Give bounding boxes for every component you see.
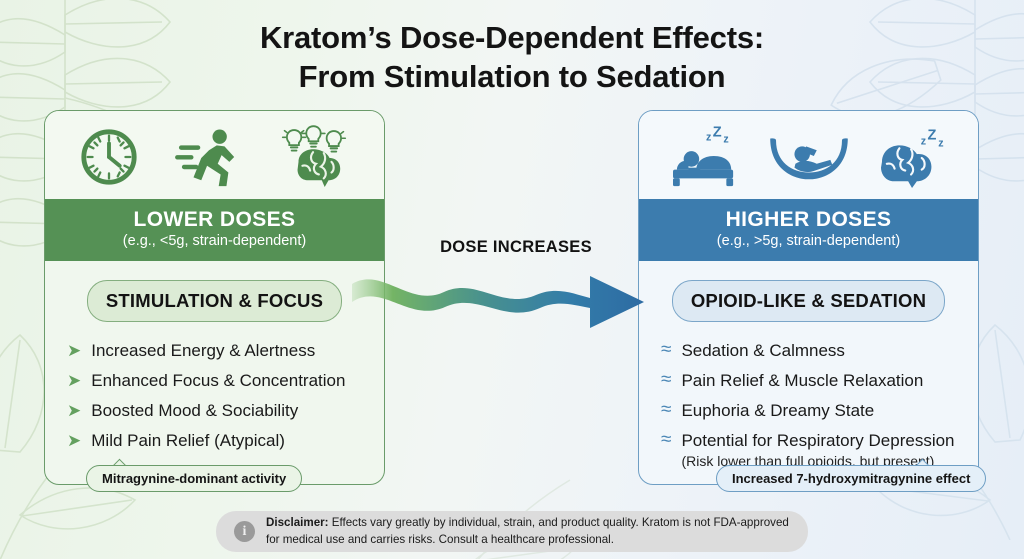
sedation-pill-wrap: OPIOID-LIKE & SEDATION: [639, 280, 978, 322]
higher-doses-band: HIGHER DOSES (e.g., >5g, strain-dependen…: [639, 199, 978, 261]
list-item: ≈ Sedation & Calmness: [661, 340, 968, 362]
lower-doses-band: LOWER DOSES (e.g., <5g, strain-dependent…: [45, 199, 384, 261]
wave-bullet-icon: ≈: [661, 340, 671, 361]
list-item-label: Enhanced Focus & Concentration: [91, 370, 345, 392]
lower-doses-title: LOWER DOSES: [51, 208, 378, 231]
title-line-2: From Stimulation to Sedation: [0, 57, 1024, 96]
arrow-bullet-icon: ➤: [67, 340, 81, 361]
arrow-bullet-icon: ➤: [67, 430, 81, 451]
list-item-label: Potential for Respiratory Depression: [681, 431, 954, 450]
lower-doses-panel: LOWER DOSES (e.g., <5g, strain-dependent…: [44, 110, 385, 485]
running-person-icon: [174, 126, 244, 188]
disclaimer-text: Disclaimer: Effects vary greatly by indi…: [266, 515, 790, 548]
mitragynine-tag: Mitragynine-dominant activity: [86, 465, 302, 492]
list-item: ➤ Enhanced Focus & Concentration: [67, 370, 374, 392]
list-item: ➤ Boosted Mood & Sociability: [67, 400, 374, 422]
higher-doses-title: HIGHER DOSES: [645, 208, 972, 231]
list-item: ≈ Pain Relief & Muscle Relaxation: [661, 370, 968, 392]
list-item-label: Pain Relief & Muscle Relaxation: [681, 370, 923, 392]
list-item-label: Increased Energy & Alertness: [91, 340, 315, 362]
lower-doses-subtitle: (e.g., <5g, strain-dependent): [51, 234, 378, 250]
svg-text:Z: Z: [712, 125, 721, 141]
opioid-like-sedation-pill: OPIOID-LIKE & SEDATION: [672, 280, 945, 322]
svg-text:Z: Z: [927, 128, 936, 144]
list-item-label: Mild Pain Relief (Atypical): [91, 430, 285, 452]
stimulation-pill-wrap: STIMULATION & FOCUS: [45, 280, 384, 322]
disclaimer-body: Effects vary greatly by individual, stra…: [266, 516, 789, 545]
list-item-label: Sedation & Calmness: [681, 340, 844, 362]
list-item-label: Boosted Mood & Sociability: [91, 400, 298, 422]
hammock-relax-icon: [766, 125, 852, 189]
higher-doses-subtitle: (e.g., >5g, strain-dependent): [645, 234, 972, 250]
list-item: ➤ Increased Energy & Alertness: [67, 340, 374, 362]
hydroxymitragynine-tag: Increased 7-hydroxymitragynine effect: [716, 465, 986, 492]
lower-doses-icon-row: [45, 111, 384, 199]
wave-bullet-icon: ≈: [661, 400, 671, 421]
info-icon: i: [234, 521, 255, 542]
arrow-bullet-icon: ➤: [67, 400, 81, 421]
dose-increases-arrow-icon: [352, 268, 652, 330]
svg-text:z: z: [938, 137, 943, 149]
svg-text:z: z: [705, 132, 710, 144]
higher-doses-icon-row: z Z z: [639, 111, 978, 199]
higher-doses-effects-list: ≈ Sedation & Calmness ≈ Pain Relief & Mu…: [639, 340, 978, 471]
wave-bullet-icon: ≈: [661, 430, 671, 451]
arrow-bullet-icon: ➤: [67, 370, 81, 391]
clock-icon: [78, 126, 140, 188]
disclaimer-banner: i Disclaimer: Effects vary greatly by in…: [216, 511, 808, 552]
lower-doses-effects-list: ➤ Increased Energy & Alertness ➤ Enhance…: [45, 340, 384, 452]
brain-sleep-icon: z Z z: [875, 125, 951, 189]
dose-increases-label: DOSE INCREASES: [396, 238, 636, 257]
stimulation-focus-pill: STIMULATION & FOCUS: [87, 280, 342, 322]
wave-bullet-icon: ≈: [661, 370, 671, 391]
sleeping-person-bed-icon: z Z z: [667, 125, 743, 189]
svg-text:z: z: [723, 133, 728, 145]
svg-text:z: z: [920, 135, 925, 147]
disclaimer-bold-prefix: Disclaimer:: [266, 516, 329, 529]
title-line-1: Kratom’s Dose-Dependent Effects:: [260, 20, 764, 55]
list-item-label: Euphoria & Dreamy State: [681, 400, 874, 422]
list-item: ≈ Euphoria & Dreamy State: [661, 400, 968, 422]
list-item: ➤ Mild Pain Relief (Atypical): [67, 430, 374, 452]
higher-doses-panel: z Z z: [638, 110, 979, 485]
brain-lightbulbs-icon: [279, 125, 351, 189]
infographic-canvas: Kratom’s Dose-Dependent Effects: From St…: [0, 0, 1024, 559]
page-title: Kratom’s Dose-Dependent Effects: From St…: [0, 18, 1024, 97]
